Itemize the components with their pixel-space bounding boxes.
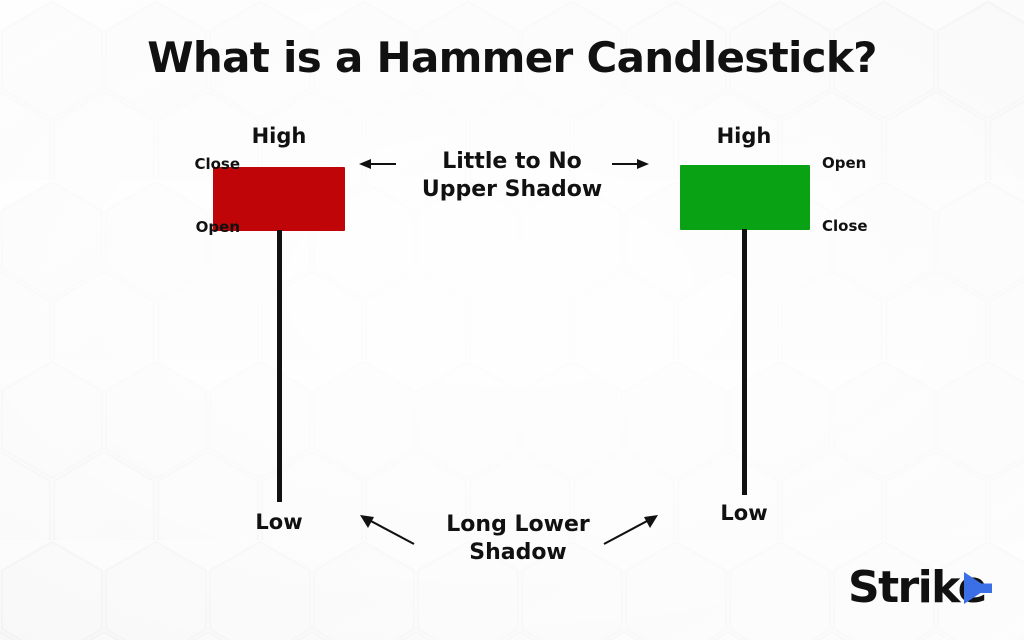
bearish-candle-lower-wick	[277, 230, 282, 502]
bearish-high-label: High	[213, 124, 345, 148]
bullish-candle-lower-wick	[742, 229, 747, 495]
bullish-open-label: Open	[822, 154, 866, 172]
bullish-low-label: Low	[678, 501, 810, 525]
upper-shadow-line-2: Upper Shadow	[392, 176, 632, 204]
bearish-low-label: Low	[213, 510, 345, 534]
page-title: What is a Hammer Candlestick?	[0, 33, 1024, 82]
upper-shadow-annotation: Little to No Upper Shadow	[392, 148, 632, 203]
bearish-close-label: Close	[194, 155, 240, 173]
bullish-high-label: High	[678, 124, 810, 148]
arrow-up-right-icon	[600, 508, 666, 550]
bullish-candle-body	[680, 165, 810, 230]
arrow-left-icon	[358, 156, 398, 172]
bullish-close-label: Close	[822, 217, 868, 235]
upper-shadow-line-1: Little to No	[392, 148, 632, 176]
bearish-open-label: Open	[196, 218, 240, 236]
strike-logo[interactable]: Strike	[848, 562, 996, 614]
arrow-right-icon	[610, 156, 650, 172]
infographic-canvas: What is a Hammer Candlestick? High Close…	[0, 0, 1024, 640]
arrow-up-left-icon	[352, 508, 418, 550]
